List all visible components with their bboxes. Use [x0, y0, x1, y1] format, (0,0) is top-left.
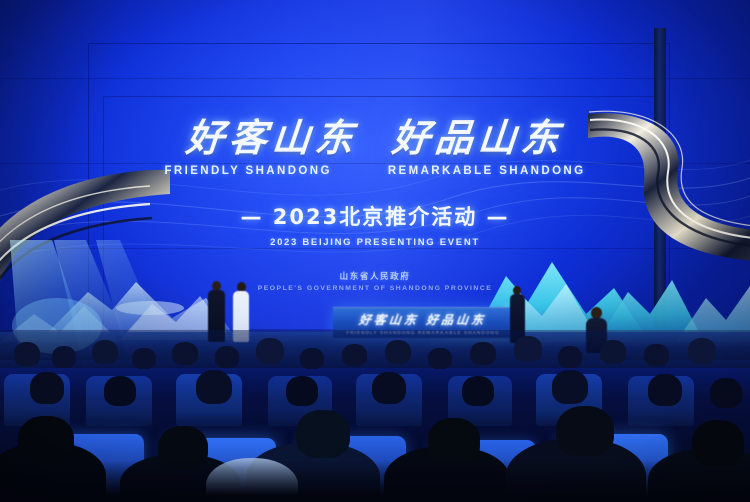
audience-head: [14, 342, 40, 366]
main-title-english-row: FRIENDLY SHANDONG REMARKABLE SHANDONG: [0, 165, 750, 177]
event-subtitle-en: 2023 BEIJING PRESENTING EVENT: [0, 237, 750, 248]
audience-head: [215, 346, 239, 368]
audience-head: [552, 370, 588, 404]
audience-head: [462, 376, 494, 406]
title-friendly-shandong-en: FRIENDLY SHANDONG: [165, 165, 332, 177]
audience-head: [644, 344, 669, 366]
audience-head: [372, 372, 406, 404]
audience-head: [558, 346, 582, 368]
audience-head: [92, 340, 118, 364]
audience-head: [514, 336, 542, 362]
event-stage-photo: 好客山东 好品山东 FRIENDLY SHANDONG REMARKABLE S…: [0, 0, 750, 502]
audience-head: [428, 418, 480, 464]
organizer-name-cn: 山东省人民政府: [0, 270, 750, 282]
audience-area: [0, 330, 750, 502]
audience-head: [196, 370, 232, 404]
audience-head: [385, 340, 411, 364]
audience-head: [172, 342, 198, 365]
title-friendly-shandong-cn: 好客山东: [184, 118, 360, 158]
main-title-calligraphy: 好客山东 好品山东: [0, 118, 750, 158]
audience-head: [688, 338, 716, 364]
screen-text-block: 好客山东 好品山东 FRIENDLY SHANDONG REMARKABLE S…: [0, 118, 750, 292]
audience-head: [428, 348, 452, 369]
audience-head: [710, 378, 742, 408]
audience-bottom-shadow: [0, 460, 750, 502]
title-remarkable-shandong-en: REMARKABLE SHANDONG: [388, 165, 586, 177]
audience-head: [342, 344, 367, 366]
title-remarkable-shandong-cn: 好品山东: [390, 118, 566, 158]
audience-head: [52, 346, 76, 368]
organizer-name-en: PEOPLE'S GOVERNMENT OF SHANDONG PROVINCE: [0, 285, 750, 292]
audience-head: [256, 338, 284, 364]
audience-head: [30, 372, 64, 404]
audience-head: [600, 340, 626, 364]
audience-head: [286, 376, 318, 406]
audience-head: [470, 342, 496, 365]
audience-head: [132, 348, 156, 369]
audience-head: [104, 376, 136, 406]
audience-head: [556, 406, 614, 456]
audience-head: [648, 374, 682, 406]
audience-head: [296, 410, 350, 458]
audience-head: [18, 416, 74, 464]
event-subtitle-cn: — 2023北京推介活动 —: [0, 201, 750, 231]
audience-head: [300, 348, 324, 369]
podium-banner-cn: 好客山东 好品山东: [359, 311, 488, 328]
